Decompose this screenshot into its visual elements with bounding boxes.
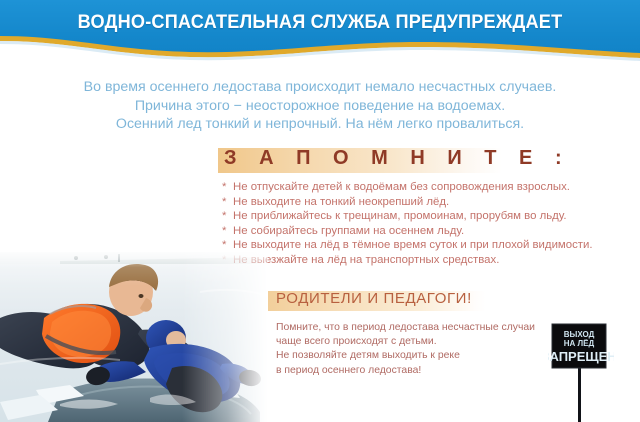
list-item: *Не приближайтесь к трещинам, промоинам,… [222,209,632,224]
list-item: *Не собирайтесь группами на осеннем льду… [222,224,632,239]
rule-text: Не приближайтесь к трещинам, промоинам, … [233,210,567,222]
bullet-star-icon: * [222,209,233,224]
sign-line-1: ВЫХОД [564,330,595,339]
poster-root: ВОДНО-СПАСАТЕЛЬНАЯ СЛУЖБА ПРЕДУПРЕЖДАЕТ … [0,0,640,422]
parents-line-1: Помните, что в период ледостава несчастн… [276,321,566,335]
rule-text: Не выходите на тонкий неокрепший лёд. [233,196,449,208]
sign-line-2: НА ЛЁД [564,339,595,348]
intro-line-3: Осенний лед тонкий и непрочный. На нём л… [0,115,640,134]
bullet-star-icon: * [222,224,233,239]
parents-line-2: чаще всего происходят с детьми. [276,335,566,349]
bullet-star-icon: * [222,180,233,195]
rule-text: Не выезжайте на лёд на транспортных сред… [233,254,499,266]
bullet-star-icon: * [222,195,233,210]
warning-sign: ВЫХОД НА ЛЁД ЗАПРЕЩЕН [548,320,614,422]
parents-paragraph: Помните, что в период ледостава несчастн… [276,321,566,378]
remember-heading: З А П О М Н И Т Е : [224,147,570,170]
sign-line-3: ЗАПРЕЩЕН [548,349,614,364]
list-item: *Не выходите на тонкий неокрепший лёд. [222,195,632,210]
wave-divider-icon [0,36,640,62]
parents-line-4: в период осеннего ледостава! [276,364,566,378]
list-item: *Не отпускайте детей к водоёмам без сопр… [222,180,632,195]
rescue-photo [0,252,268,422]
rescue-photo-illustration [0,252,268,422]
bullet-star-icon: * [222,238,233,253]
intro-line-1: Во время осеннего ледостава происходит н… [0,78,640,97]
intro-line-2: Причина этого − неосторожное поведение н… [0,97,640,116]
rules-list: *Не отпускайте детей к водоёмам без сопр… [222,180,632,268]
parents-heading: РОДИТЕЛИ И ПЕДАГОГИ! [276,290,472,307]
rescue-photo-mask [0,252,268,422]
intro-paragraph: Во время осеннего ледостава происходит н… [0,78,640,134]
list-item: *Не выходите на лёд в тёмное время суток… [222,238,632,253]
header-title: ВОДНО-СПАСАТЕЛЬНАЯ СЛУЖБА ПРЕДУПРЕЖДАЕТ [22,11,617,34]
list-item: *Не выезжайте на лёд на транспортных сре… [222,253,632,268]
rule-text: Не собирайтесь группами на осеннем льду. [233,225,464,237]
ice-forbidden-sign-icon: ВЫХОД НА ЛЁД ЗАПРЕЩЕН [548,320,614,422]
header-banner: ВОДНО-СПАСАТЕЛЬНАЯ СЛУЖБА ПРЕДУПРЕЖДАЕТ [0,0,640,62]
rule-text: Не отпускайте детей к водоёмам без сопро… [233,181,570,193]
rule-text: Не выходите на лёд в тёмное время суток … [233,239,593,251]
parents-line-3: Не позволяйте детям выходить к реке [276,349,566,363]
